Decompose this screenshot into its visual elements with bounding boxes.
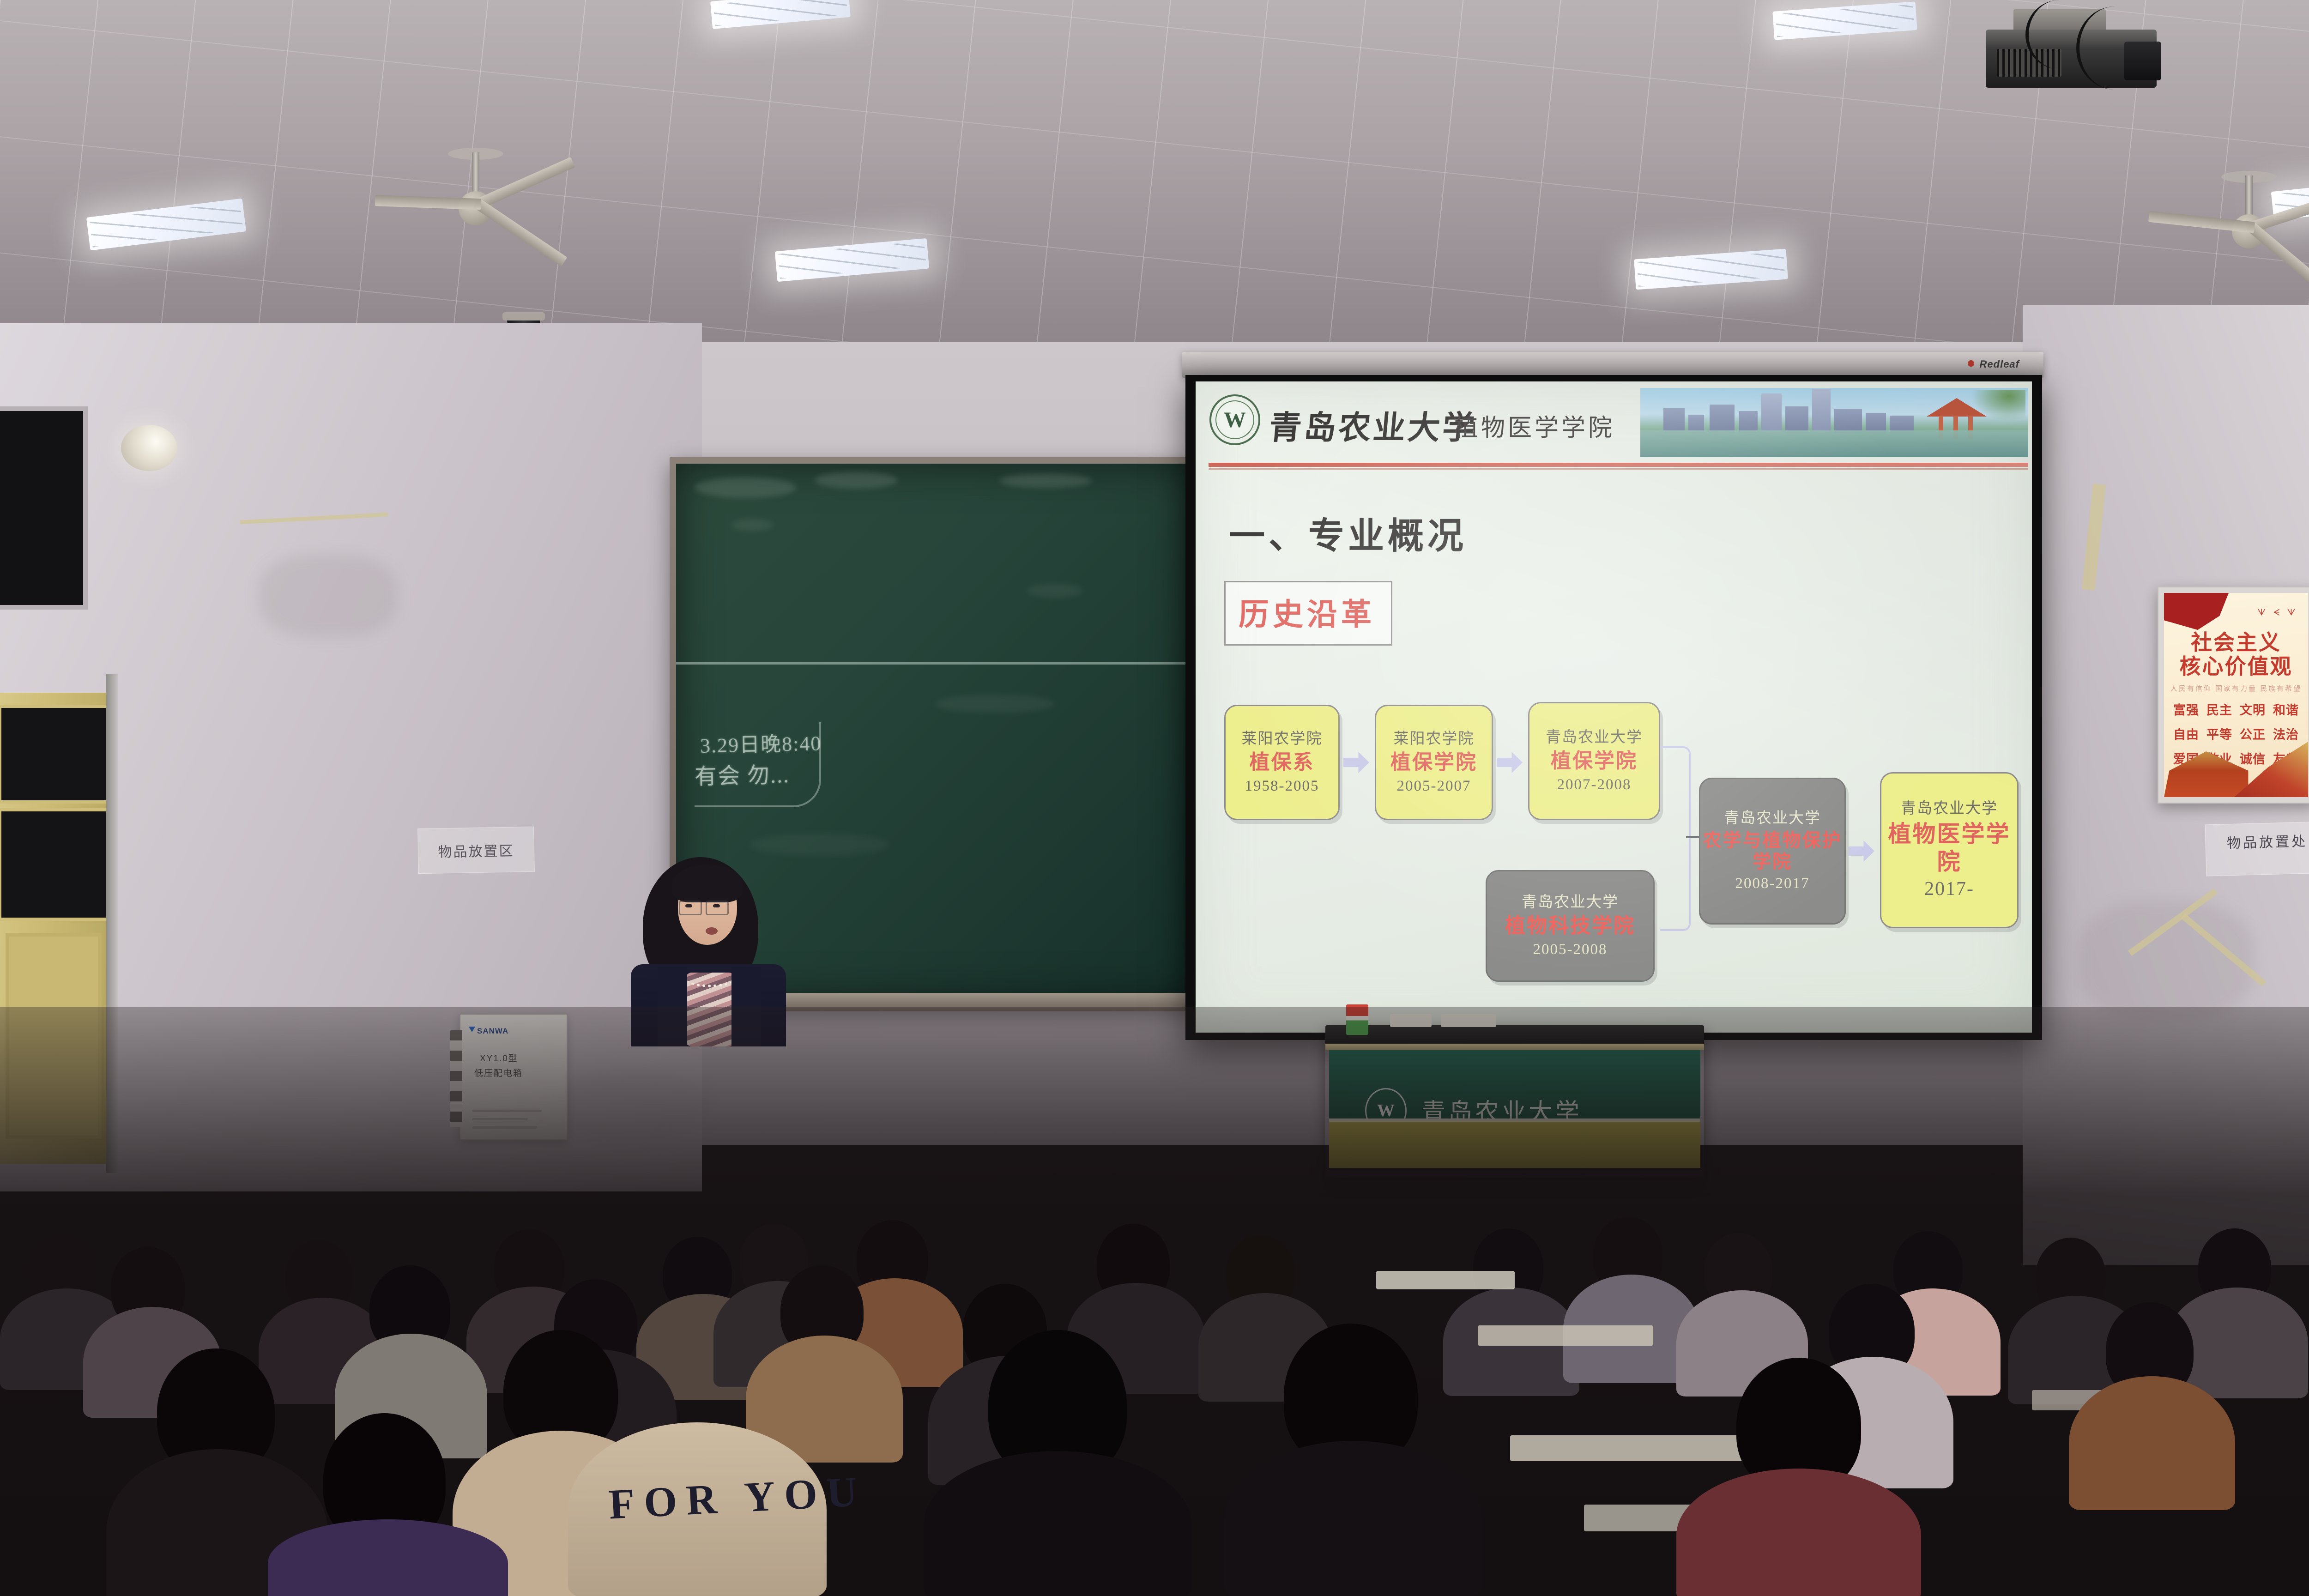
poster-value: 民主 bbox=[2204, 700, 2235, 718]
chalkboard-loop-mark bbox=[695, 722, 821, 807]
student-shoulders bbox=[1676, 1469, 1921, 1596]
lecturer-eye bbox=[685, 904, 692, 907]
flow-node-unit: 植物科技学院 bbox=[1505, 913, 1635, 938]
poster-value: 公正 bbox=[2237, 725, 2268, 743]
glasses-icon bbox=[679, 901, 702, 915]
ceiling-fan bbox=[2180, 175, 2309, 277]
student-shoulders bbox=[924, 1451, 1191, 1596]
screen-brand-label: Redleaf bbox=[1980, 358, 2019, 370]
flag-icon bbox=[2164, 593, 2229, 630]
poster-value: 诚信 bbox=[2237, 749, 2268, 767]
flow-node-org: 青岛农业大学 bbox=[1522, 893, 1619, 912]
flow-node-unit: 植保系 bbox=[1250, 750, 1315, 775]
flow-node-org: 莱阳农学院 bbox=[1242, 730, 1323, 748]
projection-screen: W 青岛农业大学 植物医学学院 bbox=[1185, 375, 2042, 1040]
flow-node-org: 青岛农业大学 bbox=[1546, 728, 1643, 747]
lecturer-mouth bbox=[706, 927, 718, 935]
core-values-poster: ᗐ ᗕ ᗐ 社会主义 核心价值观 人民有信仰 国家有力量 民族有希望 富强 民主… bbox=[2158, 586, 2309, 804]
poster-subtitle: 人民有信仰 国家有力量 民族有希望 bbox=[2164, 683, 2308, 693]
flow-merge-bracket bbox=[1660, 746, 1691, 931]
ceiling-fan bbox=[406, 152, 545, 259]
projector-unit bbox=[1986, 9, 2170, 102]
flow-node-unit: 植保学院 bbox=[1551, 749, 1638, 774]
left-wall-sign: 物品放置区 bbox=[417, 827, 535, 874]
flow-node: 青岛农业大学 农学与植物保护学院 2008-2017 bbox=[1699, 778, 1846, 925]
glasses-icon bbox=[706, 901, 729, 915]
flow-node-unit: 植保学院 bbox=[1390, 750, 1477, 775]
student-desk bbox=[1510, 1435, 1769, 1461]
classroom-photo: 3.29日晚8:40 有会 勿... 物品放置区 SANWA XY1.0型 低压… bbox=[0, 0, 2309, 1596]
brand-dot-icon bbox=[1968, 360, 1974, 367]
student-shoulders bbox=[2069, 1376, 2235, 1510]
slide-surface: W 青岛农业大学 植物医学学院 bbox=[1196, 381, 2032, 1033]
poster-values-grid: 富强 民主 文明 和谐 自由 平等 公正 法治 爱国 敬业 诚信 友善 bbox=[2170, 700, 2302, 767]
student-shoulders bbox=[1224, 1441, 1482, 1596]
student-desk bbox=[1478, 1325, 1653, 1346]
flow-node-years: 1958-2005 bbox=[1245, 777, 1319, 795]
flow-arrow-icon bbox=[1849, 840, 1874, 862]
projector-screen-housing[interactable]: Redleaf bbox=[1182, 352, 2043, 378]
flow-node: 青岛农业大学 植保学院 2007-2008 bbox=[1528, 702, 1660, 820]
poster-value: 法治 bbox=[2270, 725, 2302, 743]
flow-node-years: 2005-2007 bbox=[1397, 777, 1471, 795]
poster-value: 富强 bbox=[2170, 700, 2202, 718]
flow-arrow-icon bbox=[1343, 752, 1369, 773]
flow-node-years: 2017- bbox=[1924, 877, 1974, 901]
poster-title-line1: 社会主义 bbox=[2191, 631, 2281, 654]
dark-window bbox=[0, 406, 88, 610]
student-desk bbox=[1376, 1271, 1515, 1289]
flow-node-years: 2008-2017 bbox=[1735, 874, 1810, 893]
door-glass-panel bbox=[0, 808, 110, 921]
wall-stain bbox=[259, 554, 397, 637]
flow-node-org: 青岛农业大学 bbox=[1724, 809, 1821, 828]
poster-title-line2: 核心价值观 bbox=[2180, 655, 2293, 678]
flow-node-unit: 植物医学学院 bbox=[1881, 820, 2017, 876]
door-glass-panel bbox=[0, 705, 110, 804]
flow-node: 莱阳农学院 植保学院 2005-2007 bbox=[1375, 705, 1493, 820]
ceiling-tile-grid bbox=[0, 0, 2309, 369]
poster-value: 文明 bbox=[2237, 700, 2268, 718]
right-wall-sign: 物品放置处 bbox=[2205, 822, 2309, 877]
poster-value: 自由 bbox=[2170, 725, 2202, 743]
flow-node-years: 2005-2008 bbox=[1533, 940, 1608, 959]
wall-stain bbox=[2078, 901, 2254, 1021]
flow-node: 青岛农业大学 植物科技学院 2005-2008 bbox=[1486, 870, 1655, 982]
flow-node-years: 2007-2008 bbox=[1557, 775, 1632, 794]
flow-arrow-icon bbox=[1497, 752, 1523, 773]
poster-value: 平等 bbox=[2204, 725, 2235, 743]
flow-node-org: 青岛农业大学 bbox=[1901, 799, 1998, 818]
flow-node-unit: 农学与植物保护学院 bbox=[1700, 830, 1844, 873]
necklace bbox=[686, 971, 734, 987]
flow-node-org: 莱阳农学院 bbox=[1394, 730, 1475, 748]
history-flowchart: 莱阳农学院 植保系 1958-2005 莱阳农学院 植保学院 2005-2007… bbox=[1196, 381, 2032, 1033]
lecturer-eye bbox=[713, 904, 720, 907]
ceiling bbox=[0, 0, 2309, 369]
poster-value: 和谐 bbox=[2270, 700, 2302, 718]
flow-node: 青岛农业大学 植物医学学院 2017- bbox=[1880, 772, 2019, 928]
audience-area: FOR YOU bbox=[0, 1007, 2309, 1596]
poster-title: 社会主义 核心价值观 bbox=[2164, 631, 2308, 678]
wall-lamp-icon bbox=[121, 425, 177, 471]
birds-icon: ᗐ ᗕ ᗐ bbox=[2257, 608, 2298, 618]
flow-node: 莱阳农学院 植保系 1958-2005 bbox=[1224, 705, 1340, 820]
lecturer-hair-front bbox=[672, 864, 743, 902]
